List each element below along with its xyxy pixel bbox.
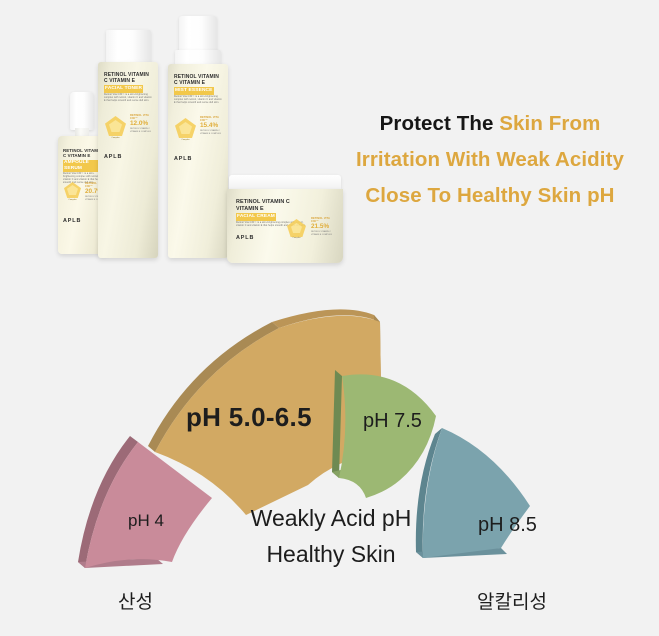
axis-label-alkaline: 알칼리성 <box>477 587 547 614</box>
mist-percent-block: RETINOL VITA C30™ 15.4% RETINOL VITAMIN … <box>200 116 225 136</box>
ph4-label: pH 4 <box>128 511 164 531</box>
infographic-page: Protect The Skin From Irritation With We… <box>0 0 659 636</box>
serum-brand: APLB <box>63 218 81 224</box>
product-lineup: RETINOL VITAMIN C VITAMIN E AMPOULE SERU… <box>0 0 345 285</box>
ph75-label: pH 7.5 <box>363 410 422 433</box>
toner-brand: APLB <box>104 154 122 160</box>
center-caption-line-2: Healthy Skin <box>186 536 476 572</box>
headline-line-1-dark: Protect The <box>380 112 500 135</box>
toner-cap <box>106 30 151 64</box>
headline-line-1-gold: Skin From <box>499 112 600 135</box>
dropper-cap <box>70 92 94 130</box>
cream-brand: APLB <box>236 235 254 241</box>
ph5-label: pH 5.0-6.5 <box>186 402 312 433</box>
cream-percent-sub: RETINOL VITAMIN C VITAMIN E COMPLEX <box>311 231 337 237</box>
headline-line-1: Protect The Skin From <box>330 106 650 142</box>
spray-nozzle <box>179 16 217 52</box>
facial-toner-bottle[interactable]: RETINOL VITAMIN C VITAMIN E FACIAL TONER… <box>92 30 164 262</box>
ph75-top-face <box>339 374 436 498</box>
headline: Protect The Skin From Irritation With We… <box>330 106 650 214</box>
toner-glass-body <box>98 62 158 258</box>
mist-percent-value: 15.4% <box>200 122 225 129</box>
headline-line-2: Irritation With Weak Acidity <box>330 142 650 178</box>
headline-line-3: Close To Healthy Skin pH <box>330 178 650 214</box>
ph-segment-ph75[interactable] <box>332 370 436 498</box>
toner-percent-value: 12.0% <box>130 120 155 127</box>
toner-percent-block: RETINOL VITA C30™ 12.0% RETINOL VITAMIN … <box>130 114 155 134</box>
toner-percent-sub: RETINOL VITAMIN C VITAMIN E COMPLEX <box>130 128 155 134</box>
cream-percent-block: RETINOL VITA C30™ 21.5% RETINOL VITAMIN … <box>311 217 337 237</box>
ph85-label: pH 8.5 <box>478 514 537 537</box>
mist-brand: APLB <box>174 156 192 162</box>
axis-label-acidic: 산성 <box>118 587 153 614</box>
mist-percent-sub: RETINOL VITAMIN C VITAMIN E COMPLEX <box>200 130 225 136</box>
toner-pentagon-caption: Complex <box>105 137 126 139</box>
center-caption-line-1: Weakly Acid pH <box>186 500 476 536</box>
mist-essence-bottle[interactable]: RETINOL VITAMIN C VITAMIN E MIST ESSENCE… <box>163 16 235 262</box>
mist-pentagon-caption: Complex <box>175 139 196 141</box>
gauge-center-caption: Weakly Acid pH Healthy Skin <box>186 500 476 572</box>
cream-pentagon-caption: Complex <box>287 237 306 239</box>
serum-pentagon-caption: Complex <box>64 199 81 201</box>
facial-cream-jar[interactable]: RETINOL VITAMIN C VITAMIN E FACIAL CREAM… <box>227 175 343 263</box>
cream-percent-value: 21.5% <box>311 223 337 230</box>
